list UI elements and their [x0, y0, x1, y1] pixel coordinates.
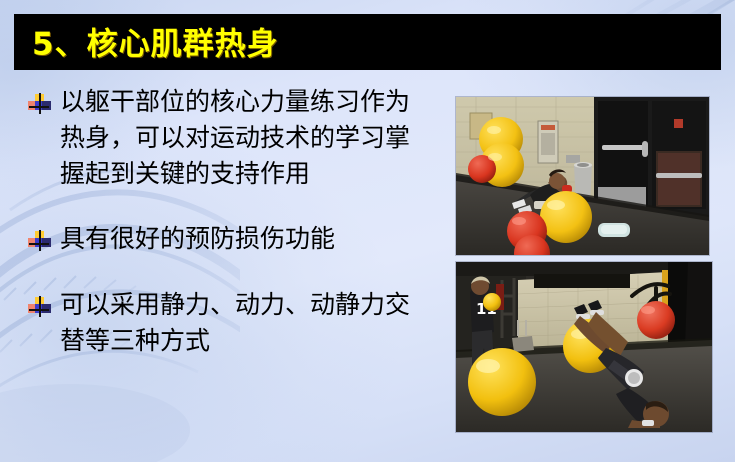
- list-item: 可以采用静力、动力、动静力交替等三种方式: [28, 287, 428, 359]
- list-item: 以躯干部位的核心力量练习作为热身，可以对运动技术的学习掌握起到关键的支持作用: [28, 84, 428, 192]
- multicolor-plus-bullet-icon: [28, 230, 50, 252]
- bullet-list: 以躯干部位的核心力量练习作为热身，可以对运动技术的学习掌握起到关键的支持作用 具…: [28, 84, 428, 359]
- title-band: 5、核心肌群热身: [14, 14, 721, 70]
- multicolor-plus-bullet-icon: [28, 93, 50, 115]
- list-item: 具有很好的预防损伤功能: [28, 221, 428, 257]
- list-item-label: 具有很好的预防损伤功能: [60, 221, 335, 257]
- multicolor-plus-bullet-icon: [28, 296, 50, 318]
- list-item-label: 可以采用静力、动力、动静力交替等三种方式: [60, 287, 428, 359]
- photo-gym-woman-over-yellow-ball: [456, 97, 709, 255]
- slide: 5、核心肌群热身 以躯干部位的核心力量练习作为热身，可以对运动技术的学习掌握起到…: [0, 0, 735, 462]
- photo-gym-athlete-legs-on-ball: 11: [456, 262, 712, 432]
- list-item-label: 以躯干部位的核心力量练习作为热身，可以对运动技术的学习掌握起到关键的支持作用: [60, 84, 428, 192]
- page-title: 5、核心肌群热身: [32, 19, 279, 64]
